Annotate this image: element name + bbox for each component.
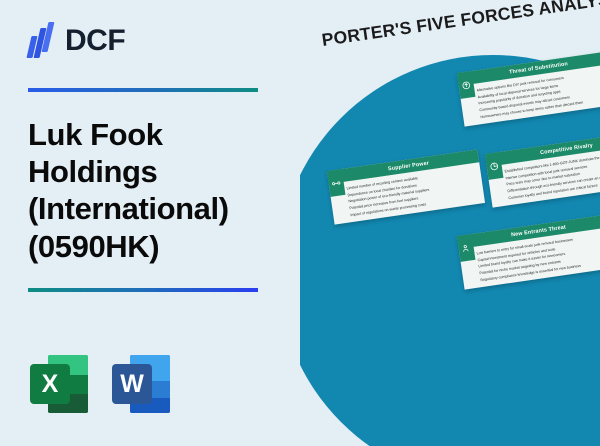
excel-badge-letter: X: [30, 364, 70, 404]
excel-file-icon[interactable]: X: [30, 355, 88, 413]
brand-logo[interactable]: DCF: [28, 22, 125, 60]
divider-top: [28, 88, 258, 92]
report-cover-page: DCF Luk Fook Holdings (International) (0…: [0, 0, 600, 446]
page-title: Luk Fook Holdings (International) (0590H…: [28, 116, 278, 265]
brand-name: DCF: [65, 26, 125, 56]
porters-five-forces-panel: PORTER'S FIVE FORCES ANALYSIS Threat of …: [300, 0, 600, 446]
divider-bottom: [28, 288, 258, 292]
bar-chart-logo-icon: [28, 22, 58, 60]
download-icons: X W: [30, 355, 170, 413]
cover-left-panel: DCF Luk Fook Holdings (International) (0…: [0, 0, 300, 446]
word-file-icon[interactable]: W: [112, 355, 170, 413]
word-badge-letter: W: [112, 364, 152, 404]
analysis-title: PORTER'S FIVE FORCES ANALYSIS: [321, 0, 600, 51]
